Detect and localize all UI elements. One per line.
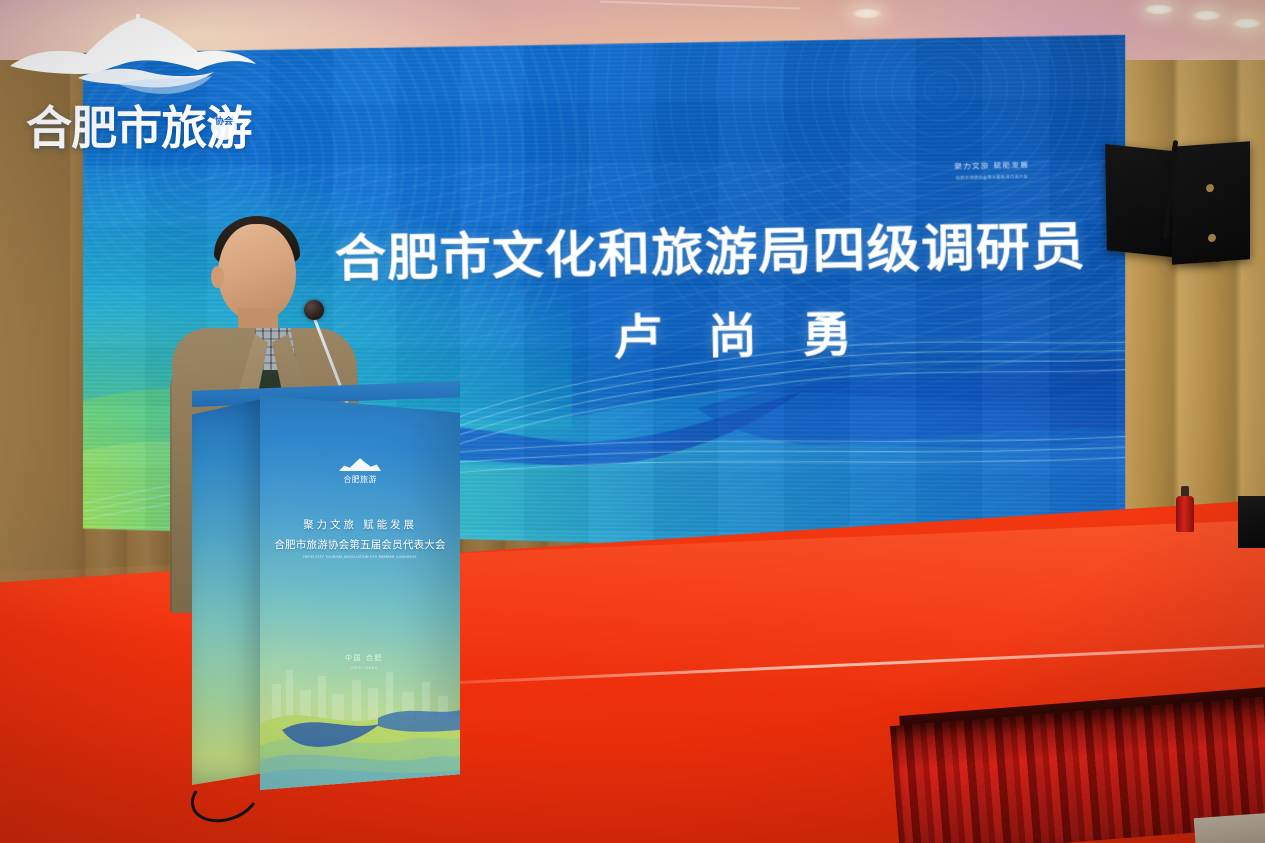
- brand-logo-badge: 协会: [211, 114, 237, 140]
- ceiling-downlight: [1144, 4, 1174, 15]
- podium-slogan-line2: 合肥市旅游协会第五届会员代表大会: [274, 537, 446, 552]
- microphone-head: [304, 300, 324, 320]
- speaker-screw: [1206, 184, 1214, 193]
- podium-lectern: 合肥旅游 聚力文旅 赋能发展 合肥市旅游协会第五届会员代表大会 HEFEI CI…: [192, 381, 460, 801]
- podium-front-panel: 合肥旅游 聚力文旅 赋能发展 合肥市旅游协会第五届会员代表大会 HEFEI CI…: [260, 395, 460, 790]
- podium-slogan-block: 聚力文旅 赋能发展 合肥市旅游协会第五届会员代表大会 HEFEI CITY TO…: [274, 517, 446, 559]
- brand-watermark: 合肥市旅游 协会: [8, 14, 258, 154]
- presenter-head: [218, 224, 296, 320]
- screen-speaker-name: 卢 尚 勇: [613, 294, 867, 368]
- speaker-screw: [1208, 234, 1216, 243]
- podium-slogan-line1: 聚力文旅 赋能发展: [274, 517, 446, 532]
- floor-below-stage: [1194, 812, 1265, 843]
- screen-corner-watermark: 聚力文旅 赋能发展 合肥市旅游协会第五届会员代表大会: [955, 160, 1030, 181]
- ceiling-panel-line: [600, 1, 800, 10]
- wall-speaker: [1172, 141, 1250, 264]
- wall-speaker-right: [1238, 496, 1265, 548]
- fire-extinguisher: [1176, 486, 1194, 532]
- mountain-icon: [339, 457, 381, 471]
- podium-logo-text: 合肥旅游: [320, 474, 400, 485]
- screen-headline: 合肥市文化和旅游局四级调研员: [335, 205, 1087, 292]
- podium-wave-motif: [260, 674, 460, 790]
- ceiling-downlight: [1192, 10, 1222, 21]
- conference-stage-photo: 合肥市文化和旅游局四级调研员 卢 尚 勇 聚力文旅 赋能发展 合肥市旅游协会第五…: [0, 0, 1265, 843]
- presenter-ear: [211, 266, 224, 288]
- podium-left-side: [192, 399, 262, 785]
- screen-watermark-line1: 聚力文旅 赋能发展: [955, 160, 1030, 172]
- ceiling-downlight: [852, 8, 882, 19]
- podium-logo: 合肥旅游: [320, 457, 400, 485]
- podium-slogan-line3: HEFEI CITY TOURISM ASSOCIATION 5TH MEMBE…: [274, 555, 446, 559]
- ceiling-downlight: [1232, 18, 1262, 29]
- fire-extinguisher-body: [1176, 496, 1194, 532]
